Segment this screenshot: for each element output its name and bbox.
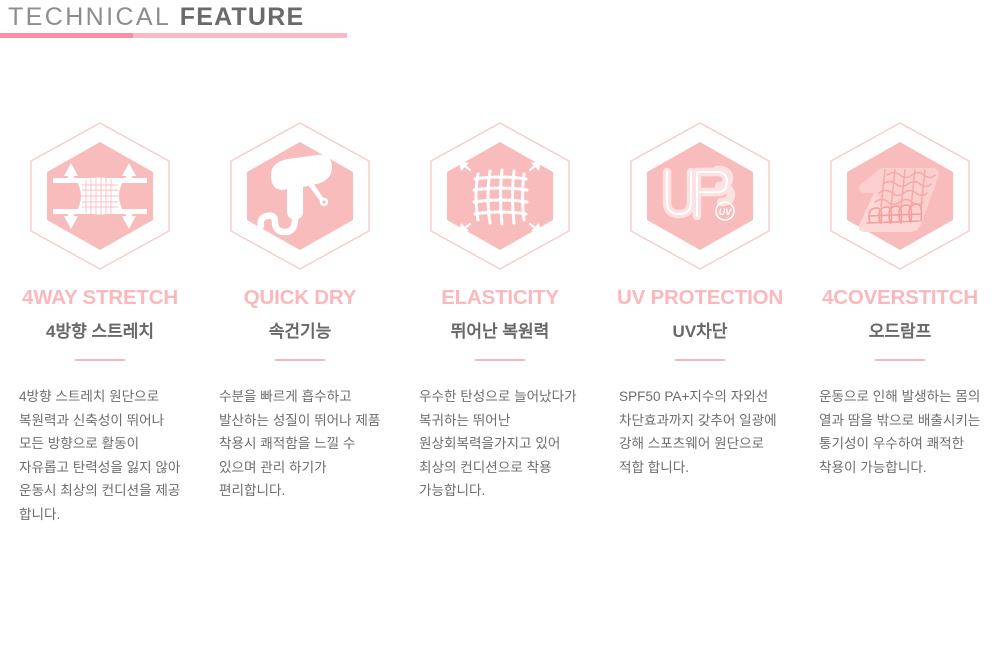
- hair-dryer-icon: [225, 120, 375, 272]
- page-title-bold: FEATURE: [180, 3, 305, 31]
- page-title: TECHNICAL FEATURE: [8, 0, 304, 34]
- header-underline-soft-segment: [133, 33, 347, 38]
- four-way-stretch-icon: [25, 120, 175, 272]
- feature-card-4way-stretch: 4WAY STRETCH 4방향 스트레치 4방향 스트레치 원단으로 복원력과…: [3, 120, 197, 526]
- feature-divider: [275, 359, 325, 361]
- svg-text:UV: UV: [719, 207, 732, 217]
- feature-title: QUICK DRY: [244, 286, 356, 310]
- feature-title: UV PROTECTION: [617, 286, 783, 310]
- feature-description: 수분을 빠르게 흡수하고 발산하는 성질이 뛰어나 제품 착용시 쾌적함을 느낄…: [219, 385, 381, 503]
- coverstitch-seam-icon: [825, 120, 975, 272]
- feature-description: SPF50 PA+지수의 자외선 차단효과까지 갖추어 일광에 강해 스포츠웨어…: [619, 385, 781, 479]
- feature-title: 4COVERSTITCH: [822, 286, 978, 310]
- feature-card-4coverstitch: 4COVERSTITCH 오드람프 운동으로 인해 발생하는 몸의 열과 땀을 …: [803, 120, 997, 479]
- upf-uv-badge-icon: UV: [625, 120, 775, 272]
- page-title-thin: TECHNICAL: [8, 3, 180, 31]
- feature-divider: [875, 359, 925, 361]
- header-underline: [0, 33, 347, 38]
- feature-subtitle: 속건기능: [269, 317, 332, 342]
- feature-subtitle: 4방향 스트레치: [46, 317, 154, 342]
- feature-description: 4방향 스트레치 원단으로 복원력과 신축성이 뛰어나 모든 방향으로 활동이 …: [19, 385, 181, 526]
- feature-title: ELASTICITY: [441, 286, 559, 310]
- header-underline-strong-segment: [0, 33, 133, 38]
- feature-title: 4WAY STRETCH: [22, 286, 178, 310]
- feature-subtitle: UV차단: [673, 317, 728, 342]
- feature-divider: [475, 359, 525, 361]
- elastic-mesh-icon: [425, 120, 575, 272]
- feature-divider: [675, 359, 725, 361]
- feature-divider: [75, 359, 125, 361]
- feature-card-uv-protection: UV UV PROTECTION UV차단 SPF50 PA+지수의 자외선 차…: [603, 120, 797, 479]
- feature-card-quick-dry: QUICK DRY 속건기능 수분을 빠르게 흡수하고 발산하는 성질이 뛰어나…: [203, 120, 397, 503]
- feature-description: 운동으로 인해 발생하는 몸의 열과 땀을 밖으로 배출시키는 통기성이 우수하…: [819, 385, 981, 479]
- feature-description: 우수한 탄성으로 늘어났다가 복귀하는 뛰어난 원상회복력을가지고 있어 최상의…: [419, 385, 581, 503]
- feature-card-elasticity: ELASTICITY 뛰어난 복원력 우수한 탄성으로 늘어났다가 복귀하는 뛰…: [403, 120, 597, 503]
- feature-subtitle: 뛰어난 복원력: [451, 317, 550, 342]
- feature-subtitle: 오드람프: [869, 317, 932, 342]
- page-header: TECHNICAL FEATURE: [0, 0, 1000, 46]
- feature-grid: 4WAY STRETCH 4방향 스트레치 4방향 스트레치 원단으로 복원력과…: [0, 120, 1000, 526]
